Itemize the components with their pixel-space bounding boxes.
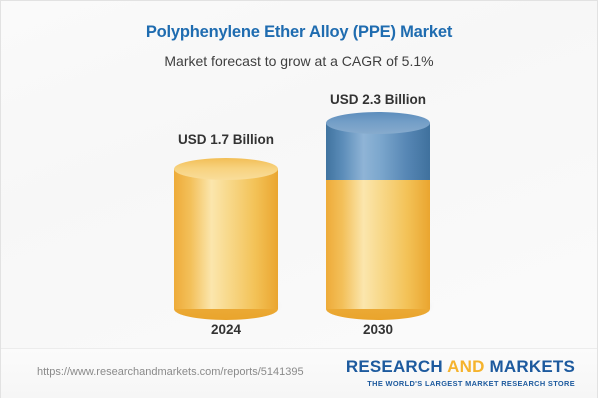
category-label-2030: 2030	[363, 322, 393, 337]
bar-segment-base-2030	[326, 180, 430, 309]
chart-card: Polyphenylene Ether Alloy (PPE) Market M…	[0, 0, 598, 398]
research-and-markets-logo[interactable]: RESEARCH AND MARKETS THE WORLD'S LARGEST…	[346, 357, 575, 388]
logo-wordmark: RESEARCH AND MARKETS	[346, 357, 575, 377]
report-url-link[interactable]: https://www.researchandmarkets.com/repor…	[37, 366, 304, 378]
logo-word-research: RESEARCH	[346, 357, 443, 376]
footer: https://www.researchandmarkets.com/repor…	[1, 349, 597, 398]
cylinder-body	[326, 180, 430, 309]
cylinder-top-ellipse	[326, 112, 430, 134]
logo-word-markets: MARKETS	[490, 357, 575, 376]
chart-plot-area: USD 1.7 Billion 2024 USD 2.3 Billion	[1, 1, 597, 349]
logo-word-and: AND	[443, 357, 490, 376]
bar-value-label-2024: USD 1.7 Billion	[178, 132, 274, 147]
bar-segment-growth-2030	[326, 123, 430, 180]
bar-cylinder-2030[interactable]	[326, 123, 430, 309]
bar-value-label-2030: USD 2.3 Billion	[330, 92, 426, 107]
cylinder-body	[174, 169, 278, 309]
category-label-2024: 2024	[211, 322, 241, 337]
bar-segment-base-2024	[174, 169, 278, 309]
bar-cylinder-2024[interactable]	[174, 169, 278, 309]
logo-tagline: THE WORLD'S LARGEST MARKET RESEARCH STOR…	[346, 379, 575, 388]
cylinder-top-ellipse	[174, 158, 278, 180]
